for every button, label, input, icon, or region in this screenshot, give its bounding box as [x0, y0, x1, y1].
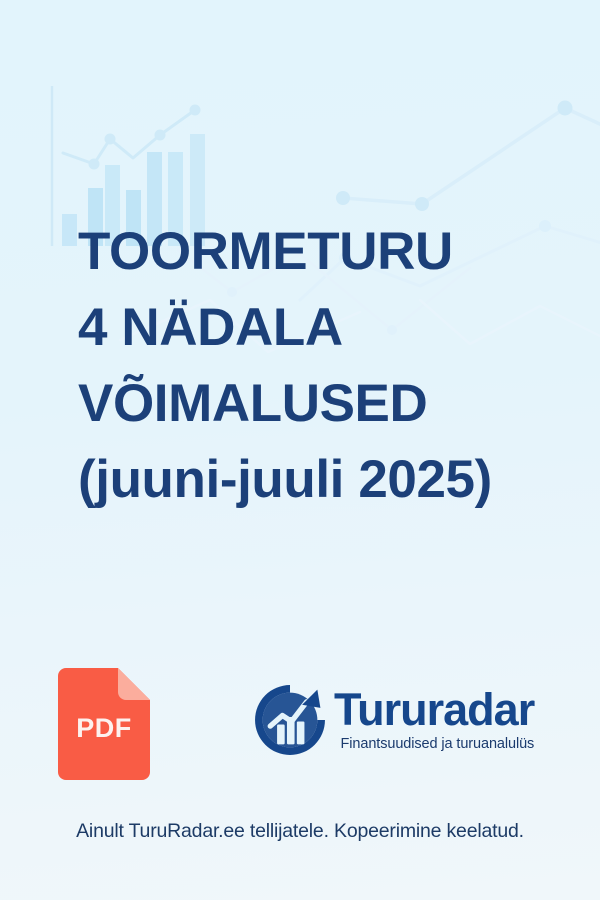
footer-notice: Ainult TuruRadar.ee tellijatele. Kopeeri… — [0, 820, 600, 843]
title-line-1: TOORMETURU — [78, 214, 548, 290]
bg-line-right-upper — [336, 101, 600, 212]
cover-title: TOORMETURU 4 NÄDALA VÕIMALUSED (juuni-ju… — [78, 214, 548, 518]
badge-row: PDF Tururadar Finantsuudised ja turuanal — [0, 668, 600, 784]
title-line-3: VÕIMALUSED — [78, 366, 548, 442]
brand-logo: Tururadar Finantsuudised ja turuanalulüs — [252, 682, 534, 758]
tururadar-growth-arrow-icon — [252, 682, 328, 758]
title-line-4: (juuni-juuli 2025) — [78, 442, 548, 518]
pdf-cover-page: TOORMETURU 4 NÄDALA VÕIMALUSED (juuni-ju… — [0, 0, 600, 900]
pdf-icon-label: PDF — [58, 668, 150, 780]
logo-text-block: Tururadar Finantsuudised ja turuanalulüs — [334, 687, 534, 753]
logo-wordmark: Tururadar — [334, 687, 534, 732]
title-line-2: 4 NÄDALA — [78, 290, 548, 366]
logo-tagline: Finantsuudised ja turuanalulüs — [341, 735, 535, 753]
bg-line-left — [63, 105, 201, 170]
